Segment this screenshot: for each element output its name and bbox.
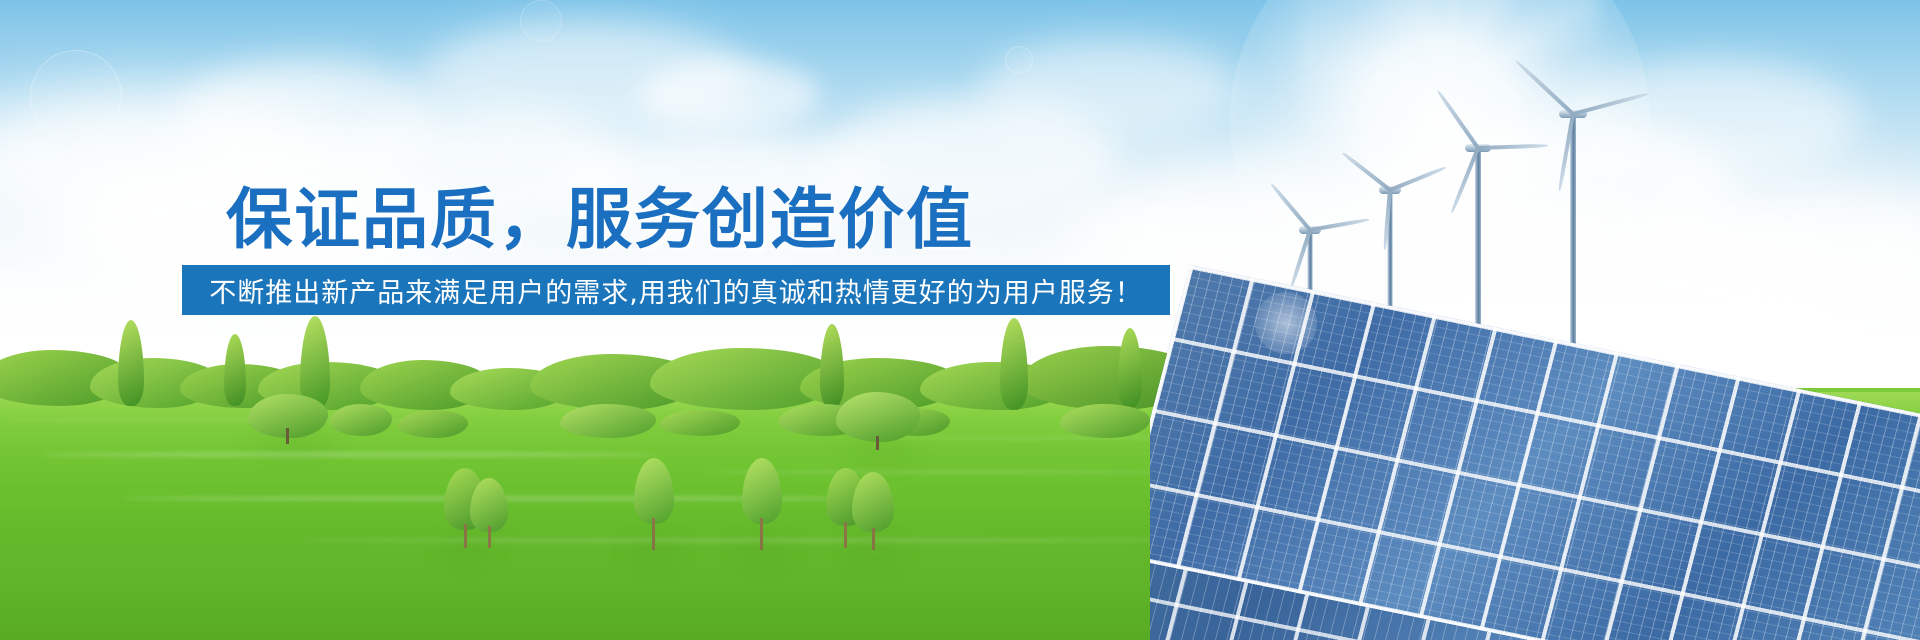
turbine-blade	[1515, 59, 1576, 116]
cypress-tree	[224, 334, 246, 406]
turbine-blade	[1270, 183, 1313, 233]
cloud	[640, 60, 820, 130]
lens-flare	[520, 0, 562, 42]
subtitle-text: 不断推出新产品来满足用户的需求,用我们的真诚和热情更好的为用户服务！	[209, 271, 1143, 310]
shrub	[560, 404, 656, 438]
panel-lens-flare	[1255, 292, 1317, 354]
sapling-stem	[844, 522, 847, 548]
mow-stripe	[300, 538, 1200, 543]
promo-banner: 保证品质，服务创造价值 不断推出新产品来满足用户的需求,用我们的真诚和热情更好的…	[0, 0, 1920, 640]
cypress-tree	[118, 320, 144, 406]
page-title: 保证品质，服务创造价值	[0, 166, 1200, 262]
sapling-shadow	[628, 544, 682, 556]
shrub	[1060, 404, 1150, 438]
turbine-blade	[1436, 90, 1481, 151]
cypress-tree	[1000, 318, 1028, 410]
turbine-blade	[1571, 92, 1649, 117]
shrub	[660, 410, 740, 436]
sapling-shadow	[846, 546, 902, 558]
shrub	[330, 404, 392, 436]
turbine-blade	[1387, 166, 1446, 193]
cypress-tree	[820, 324, 844, 408]
sapling-shadow	[736, 544, 790, 556]
lens-flare	[30, 50, 122, 142]
sapling-stem	[488, 526, 491, 548]
turbine-blade	[1341, 151, 1392, 192]
shrub	[398, 410, 468, 438]
shrub-shadow	[252, 436, 336, 452]
sapling-shadow	[440, 542, 494, 554]
lens-flare	[1005, 46, 1033, 74]
shrub	[836, 392, 920, 442]
subtitle-bar: 不断推出新产品来满足用户的需求,用我们的真诚和热情更好的为用户服务！	[182, 265, 1170, 315]
mow-stripe	[40, 452, 660, 457]
shrub-shadow	[842, 444, 920, 458]
cypress-tree	[1118, 328, 1142, 408]
